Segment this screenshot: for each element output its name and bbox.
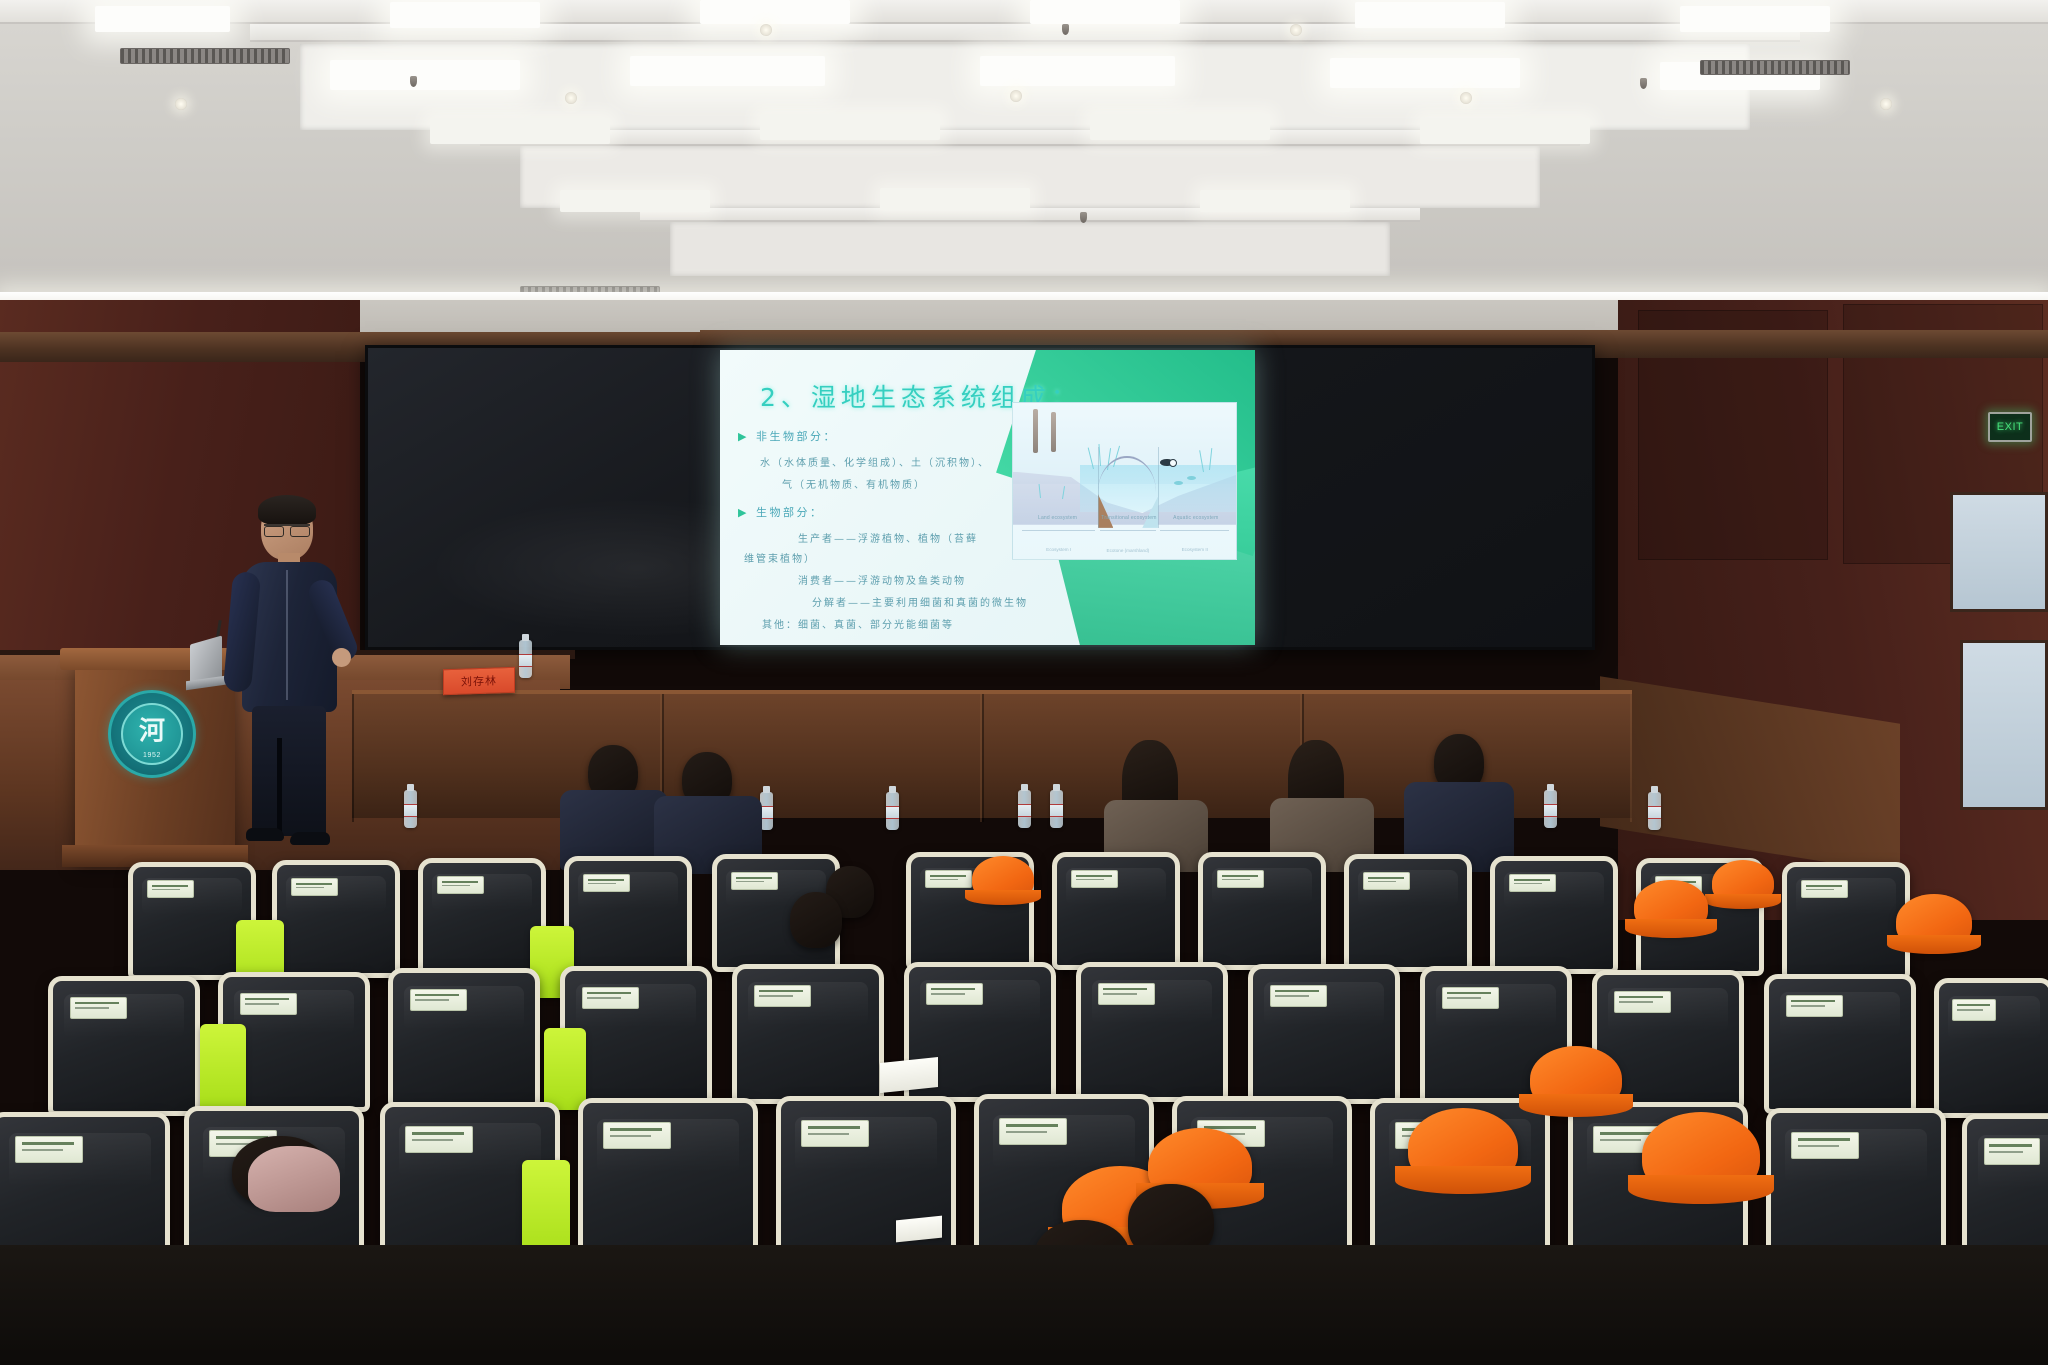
seat-id-tag — [240, 993, 297, 1015]
presenter-leg-gap — [277, 738, 282, 838]
seat-id-tag — [731, 872, 778, 890]
auditorium-seat[interactable] — [1782, 862, 1910, 980]
floor — [0, 1245, 2048, 1365]
seat-id-tag — [999, 1118, 1067, 1145]
ceiling-light-panel — [560, 190, 710, 212]
exit-sign-label: EXIT — [1997, 421, 2023, 433]
seat-id-tag — [70, 997, 127, 1019]
orange-cap — [1634, 880, 1708, 934]
seat-id-tag — [583, 874, 630, 892]
seat-id-tag — [410, 989, 467, 1011]
slide-line-2: 气（无机物质、有机物质） — [782, 476, 926, 491]
speaker-nameplate: 刘存林 — [443, 667, 515, 696]
seat-id-tag — [437, 876, 484, 894]
ceiling-light-panel — [95, 6, 230, 32]
auditorium-seat[interactable] — [732, 964, 884, 1104]
orange-cap — [1896, 894, 1972, 950]
slide-line-1: 水（水体质量、化学组成）、土（沉积物）、 — [760, 454, 990, 469]
water-bottle — [404, 790, 417, 828]
seat-id-tag — [582, 987, 639, 1009]
slide-line-7: 其他：细菌、真菌、部分光能细菌等 — [762, 616, 954, 631]
ceiling-light-panel — [330, 60, 520, 90]
seat-id-tag — [925, 870, 972, 888]
presenter-hand — [332, 648, 351, 667]
ceiling-light-panel — [1680, 6, 1830, 32]
projected-slide: 2、湿地生态系统组成： ▶非生物部分： 水（水体质量、化学组成）、土（沉积物）、… — [720, 350, 1255, 645]
slide-line-3: 生产者——浮游植物、植物（苔藓 — [798, 530, 978, 545]
auditorium-seat[interactable] — [1764, 974, 1916, 1114]
auditorium-seat[interactable] — [1934, 978, 2048, 1118]
auditorium-seat[interactable] — [388, 968, 540, 1108]
ceiling-light-panel — [1420, 118, 1590, 144]
seat-id-tag — [1098, 983, 1155, 1005]
emergency-exit-sign: EXIT — [1988, 412, 2032, 442]
ceiling-air-vent — [1700, 60, 1850, 75]
fire-sprinkler — [1640, 78, 1647, 89]
nameplate-text: 刘存林 — [461, 672, 497, 689]
seat-id-tag — [1791, 1132, 1859, 1159]
diagram-zone-label-transitional: Transitional ecosystem — [1100, 515, 1158, 522]
seat-id-tag — [1071, 870, 1118, 888]
ceiling-air-vent — [120, 48, 290, 64]
seat-id-tag — [291, 878, 338, 896]
wetland-ecosystem-diagram: Land ecosystem Transitional ecosystem Aq… — [1012, 402, 1237, 560]
diagram-bracket-label-2: Ecotone (marshland) — [1100, 548, 1156, 554]
attendee-head — [790, 892, 842, 948]
downlight — [175, 98, 187, 110]
seat-id-tag — [1801, 880, 1848, 898]
water-bottle — [519, 640, 532, 678]
downlight — [1460, 92, 1472, 104]
college-seal-emblem: 河 1952 — [108, 690, 196, 778]
auditorium-seat[interactable] — [1198, 852, 1326, 970]
slide-line-4: 维管束植物） — [744, 550, 816, 565]
jacket-zipper — [286, 570, 288, 700]
seat-id-tag — [405, 1126, 473, 1153]
slide-line-6: 分解者——主要利用细菌和真菌的微生物 — [812, 594, 1028, 609]
ceiling-light-panel — [430, 118, 610, 144]
presenter-shoe-left — [246, 828, 284, 841]
auditorium-seat[interactable] — [1052, 852, 1180, 970]
slide-bullet-nonbiotic: ▶非生物部分： — [738, 428, 837, 444]
seal-glyph: 河 — [139, 711, 165, 748]
ceiling-light-panel — [630, 56, 825, 86]
bullet-marker-icon: ▶ — [738, 430, 749, 443]
side-display-panel — [1960, 640, 2048, 810]
seat-id-tag — [1952, 999, 1996, 1021]
ceiling-light-panel — [1355, 2, 1505, 28]
water-bottle — [1648, 792, 1661, 830]
fire-sprinkler — [1080, 212, 1087, 223]
safety-vest — [200, 1024, 246, 1110]
fish-icon — [1174, 481, 1183, 485]
ceiling-light-panel — [1030, 0, 1180, 24]
duck-icon — [1160, 459, 1173, 466]
fire-sprinkler — [410, 76, 417, 87]
fire-sprinkler — [1062, 24, 1069, 35]
orange-cap — [1408, 1108, 1518, 1188]
diagram-zone-label-aquatic: Aquatic ecosystem — [1160, 515, 1231, 522]
water-bottle — [1018, 790, 1031, 828]
water-bottle — [1544, 790, 1557, 828]
seat-id-tag — [1786, 995, 1843, 1017]
seat-id-tag — [1614, 991, 1671, 1013]
orange-cap — [972, 856, 1034, 902]
auditorium-seat[interactable] — [1248, 964, 1400, 1104]
auditorium-seat[interactable] — [418, 858, 546, 976]
ceiling-light-panel — [980, 56, 1175, 86]
orange-cap — [1712, 860, 1774, 906]
seat-id-tag — [1270, 985, 1327, 1007]
presenter — [228, 498, 358, 848]
seat-id-tag — [801, 1120, 869, 1147]
ceiling — [0, 0, 2048, 330]
tree-icon — [1051, 412, 1056, 452]
downlight — [1880, 98, 1892, 110]
presenter-shoe-right — [290, 832, 330, 845]
ceiling-light-panel — [760, 114, 940, 140]
glasses-icon — [264, 524, 310, 533]
seat-id-tag — [1984, 1138, 2040, 1165]
downlight — [1010, 90, 1022, 102]
downlight — [760, 24, 772, 36]
auditorium-seat[interactable] — [1344, 854, 1472, 972]
ceiling-light-panel — [1330, 58, 1520, 88]
seat-id-tag — [147, 880, 194, 898]
lecture-hall-scene: EXIT 2、湿地生态系统组成： ▶非生物部分： 水（水体质量、化学组成）、土（… — [0, 0, 2048, 1365]
downlight — [1290, 24, 1302, 36]
side-display-panel — [1950, 492, 2048, 612]
auditorium-seat[interactable] — [564, 856, 692, 974]
seat-id-tag — [603, 1122, 671, 1149]
attendee-hair — [248, 1146, 340, 1212]
diagram-bracket-label-1: Ecosystem I — [1022, 547, 1096, 553]
auditorium-seat[interactable] — [48, 976, 200, 1116]
safety-vest — [544, 1028, 586, 1110]
seat-id-tag — [926, 983, 983, 1005]
orange-cap — [1642, 1112, 1760, 1198]
water-bottle — [1050, 790, 1063, 828]
ceiling-light-panel — [390, 2, 540, 28]
seat-id-tag — [1217, 870, 1264, 888]
slide-line-5: 消费者——浮游动物及鱼类动物 — [798, 572, 966, 587]
water-bottle — [886, 792, 899, 830]
ceiling-light-panel — [880, 188, 1030, 210]
downlight — [565, 92, 577, 104]
diagram-zone-label-land: Land ecosystem — [1022, 515, 1093, 522]
diagram-bracket-label-3: Ecosystem II — [1160, 547, 1229, 553]
ceiling-light-panel — [700, 0, 850, 24]
bullet-marker-icon: ▶ — [738, 506, 749, 519]
handout-paper — [880, 1057, 938, 1093]
ceiling-light-panel — [1090, 114, 1270, 140]
tree-icon — [1033, 409, 1038, 453]
seat-id-tag — [15, 1136, 83, 1163]
orange-cap — [1530, 1046, 1622, 1112]
seat-id-tag — [754, 985, 811, 1007]
seal-year: 1952 — [143, 752, 161, 759]
auditorium-seat[interactable] — [1490, 856, 1618, 974]
auditorium-seat[interactable] — [272, 860, 400, 978]
seat-id-tag — [1442, 987, 1499, 1009]
seat-id-tag — [1363, 872, 1410, 890]
ceiling-light-panel — [1200, 190, 1350, 212]
presenter-legs — [252, 706, 326, 836]
auditorium-seat[interactable] — [578, 1098, 758, 1266]
auditorium-seat[interactable] — [1076, 962, 1228, 1102]
presenter-hair — [258, 495, 316, 525]
slide-bullet-biotic: ▶生物部分： — [738, 504, 823, 520]
seat-id-tag — [1509, 874, 1556, 892]
